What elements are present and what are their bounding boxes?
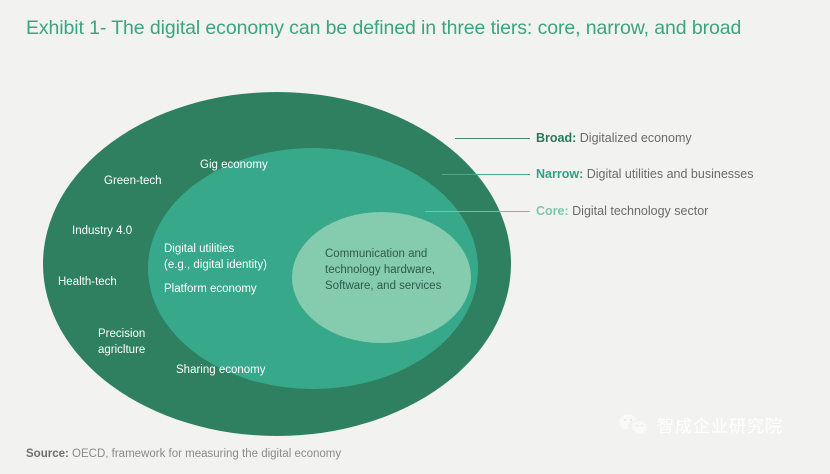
label-precision-agriculture: Precision agriclture — [98, 326, 145, 358]
legend-term-broad: Broad: — [536, 131, 576, 145]
leader-line-narrow — [442, 174, 530, 175]
legend-item-core: Core: Digital technology sector — [536, 203, 708, 220]
legend-description-broad: Digitalized economy — [580, 131, 692, 145]
label-gig-economy: Gig economy — [200, 157, 268, 173]
source-note: Source: OECD, framework for measuring th… — [26, 448, 341, 460]
label-sharing-economy: Sharing economy — [176, 362, 266, 378]
source-label: Source: — [26, 448, 69, 460]
leader-line-broad — [455, 138, 530, 139]
legend-description-core: Digital technology sector — [572, 204, 708, 218]
source-text: OECD, framework for measuring the digita… — [72, 448, 341, 460]
watermark: 智成企业研究院 — [618, 412, 783, 437]
leader-line-core — [425, 211, 530, 212]
label-industry-4-0: Industry 4.0 — [72, 223, 132, 239]
legend-item-broad: Broad: Digitalized economy — [536, 130, 692, 147]
label-digital-utilities: Digital utilities (e.g., digital identit… — [164, 241, 267, 273]
venn-diagram: Gig economy Green-tech Industry 4.0 Heal… — [0, 0, 830, 474]
label-platform-economy: Platform economy — [164, 281, 257, 297]
legend-term-core: Core: — [536, 204, 569, 218]
label-green-tech: Green-tech — [104, 173, 162, 189]
legend-term-narrow: Narrow: — [536, 167, 583, 181]
label-health-tech: Health-tech — [58, 274, 117, 290]
watermark-text: 智成企业研究院 — [657, 412, 783, 437]
label-core-contents: Communication and technology hardware, S… — [325, 246, 465, 294]
wechat-icon — [618, 413, 648, 437]
legend-description-narrow: Digital utilities and businesses — [587, 167, 754, 181]
legend-item-narrow: Narrow: Digital utilities and businesses — [536, 166, 753, 183]
